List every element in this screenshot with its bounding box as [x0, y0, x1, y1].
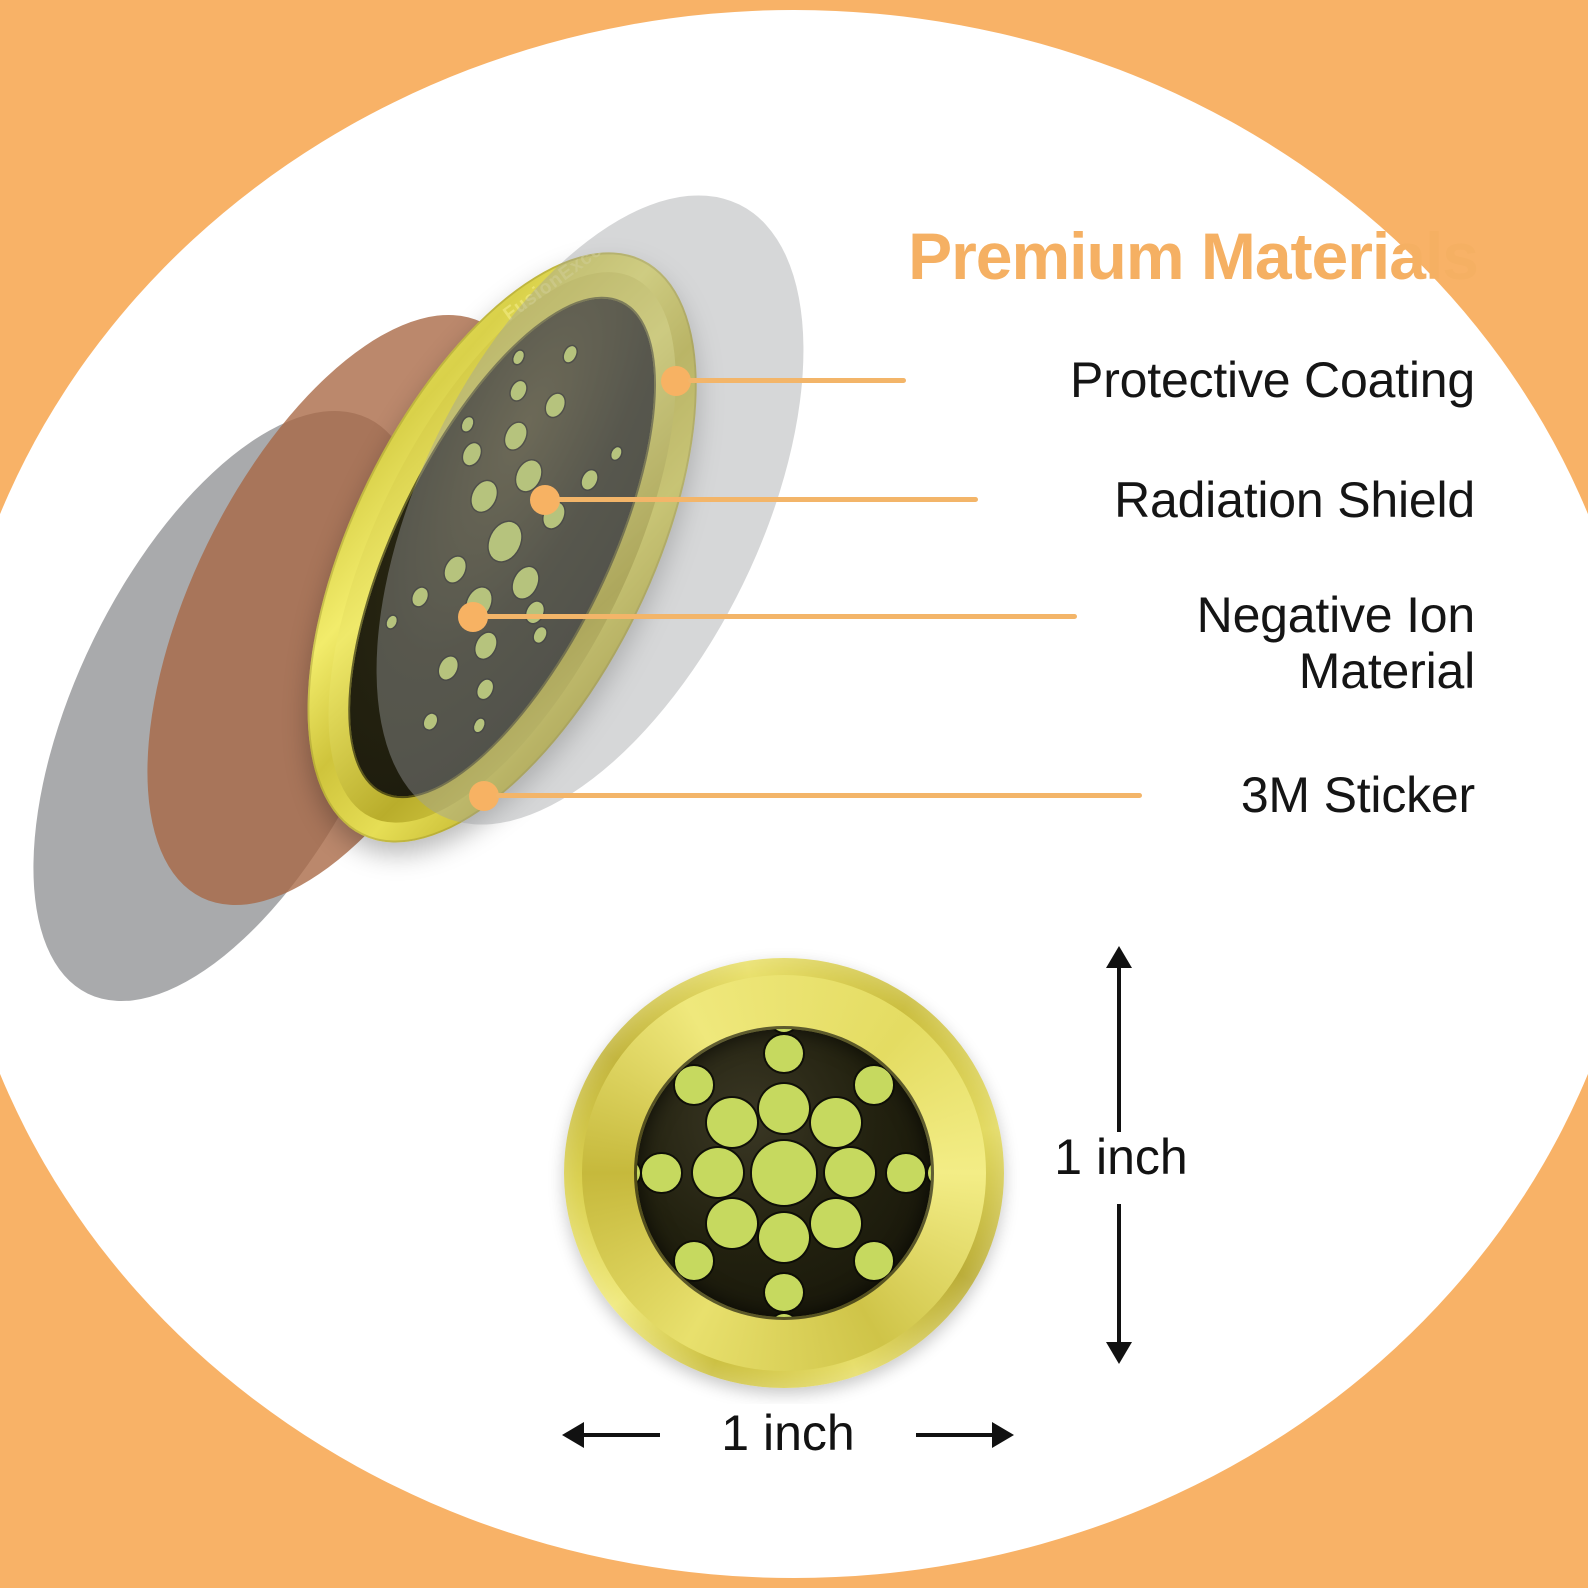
callout-line-protective-coating	[688, 378, 906, 383]
arrow-left-icon	[562, 1422, 584, 1448]
callout-line-radiation-shield	[557, 497, 978, 502]
width-dimension-label: 1 inch	[660, 1404, 916, 1462]
product-coin-front-view: FusionExcel International QUANTUM·SCIENC…	[564, 958, 1004, 1388]
callout-label-radiation-shield: Radiation Shield	[1114, 472, 1475, 528]
coin-dark-face	[637, 1029, 932, 1317]
callout-line-negative-ion	[485, 614, 1077, 619]
infographic-canvas: FusionExcel International	[0, 0, 1588, 1588]
arrow-down-icon	[1106, 1342, 1132, 1364]
arrow-right-icon	[992, 1422, 1014, 1448]
exploded-layer-diagram: FusionExcel International	[0, 0, 900, 900]
callout-dot-negative-ion[interactable]	[458, 602, 488, 632]
callout-dot-protective-coating[interactable]	[661, 366, 691, 396]
callout-label-negative-ion: Negative Ion Material	[1197, 587, 1475, 699]
height-dimension-label: 1 inch	[1036, 1128, 1206, 1186]
callout-line-3m-sticker	[496, 793, 1142, 798]
callout-label-3m-sticker: 3M Sticker	[1241, 767, 1475, 823]
callout-dot-3m-sticker[interactable]	[469, 781, 499, 811]
page-title: Premium Materials	[908, 218, 1478, 294]
callout-dot-radiation-shield[interactable]	[530, 485, 560, 515]
callout-label-protective-coating: Protective Coating	[1070, 352, 1475, 408]
